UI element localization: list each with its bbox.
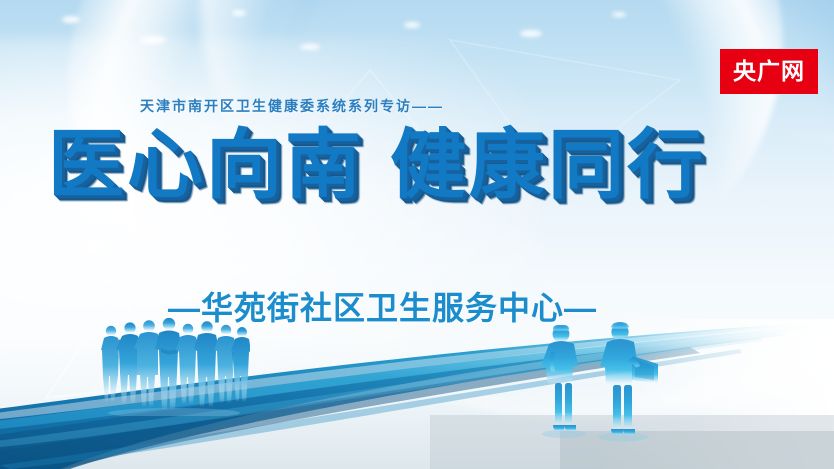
sky-speck	[404, 22, 420, 28]
sky-speck	[520, 30, 542, 37]
subheadline-text: —华苑街社区卫生服务中心—	[168, 292, 597, 324]
kicker-text: 天津市南开区卫生健康委系统系列专访——	[140, 96, 444, 116]
promo-banner: 天津市南开区卫生健康委系统系列专访—— 医心向南健康同行 —华苑街社区卫生服务中…	[0, 0, 834, 469]
sky-speck	[78, 236, 108, 258]
sky-speck	[300, 44, 320, 50]
page-title: 医心向南健康同行	[48, 128, 706, 204]
headline-part-2: 健康同行	[390, 123, 706, 208]
sky-speck	[612, 12, 626, 17]
sky-speck	[62, 16, 80, 23]
sky-speck	[140, 36, 166, 44]
cnr-logo: 央广网	[720, 49, 818, 94]
cnr-logo-text: 央广网	[733, 60, 805, 83]
blue-road-graphic	[0, 319, 834, 469]
headline-part-1: 医心向南	[48, 123, 364, 208]
sky-speck	[232, 10, 246, 16]
